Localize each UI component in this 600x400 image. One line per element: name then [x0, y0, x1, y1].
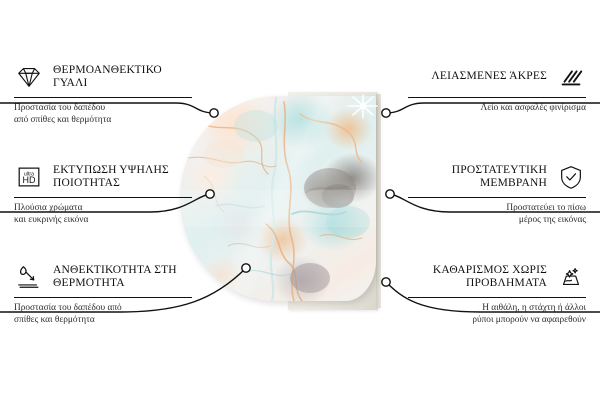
feature-title: ΛΕΙΑΣΜΕΝΕΣ ΆΚΡΕΣ: [431, 70, 547, 84]
feature-header: ultra HD ΕΚΤΥΠΩΣΗ ΥΨΗΛΗΣ ΠΟΙΟΤΗΤΑΣ: [14, 162, 192, 192]
feature-heat-resistant-glass: ΘΕΡΜΟΑΝΘΕΚΤΙΚΟ ΓΥΑΛΙ Προστασία του δαπέδ…: [14, 62, 192, 126]
feature-description-line2: από σπίθες και θερμότητα: [14, 115, 192, 127]
glass-glare: [180, 96, 376, 301]
feature-description: Προστασία του δαπέδου από σπίθες και θερ…: [14, 303, 192, 326]
feature-title: ΠΡΟΣΤΑΤΕΥΤΙΚΗ ΜΕΜΒΡΑΝΗ: [408, 164, 547, 191]
sparkle-clean-icon: [556, 262, 586, 292]
product-illustration: [180, 92, 420, 318]
feature-divider: [14, 197, 192, 198]
shield-check-icon: [556, 162, 586, 192]
feature-header: ΚΑΘΑΡΙΣΜΟΣ ΧΩΡΙΣ ΠΡΟΒΛΗΜΑΤΑ: [408, 262, 586, 292]
product-panel-edge: [376, 94, 381, 308]
diamond-icon: [14, 62, 44, 92]
feature-high-quality-print: ultra HD ΕΚΤΥΠΩΣΗ ΥΨΗΛΗΣ ΠΟΙΟΤΗΤΑΣ Πλούσ…: [14, 162, 192, 226]
feature-heat-durability: ΑΝΘΕΚΤΙΚΟΤΗΤΑ ΣΤΗ ΘΕΡΜΟΤΗΤΑ Προστασία το…: [14, 262, 192, 326]
feature-description: Λείο και ασφαλές φινίρισμα: [408, 103, 586, 115]
feature-title: ΘΕΡΜΟΑΝΘΕΚΤΙΚΟ ΓΥΑΛΙ: [53, 64, 192, 91]
feature-description-line2: και ευκρινής εικόνα: [14, 215, 192, 227]
feature-description-line2: ρύποι μπορούν να αφαιρεθούν: [408, 315, 586, 327]
feature-divider: [14, 297, 192, 298]
feature-header: ΑΝΘΕΚΤΙΚΟΤΗΤΑ ΣΤΗ ΘΕΡΜΟΤΗΤΑ: [14, 262, 192, 292]
feature-description-line2: μέρος της εικόνας: [408, 215, 586, 227]
ultra-hd-main-label: HD: [23, 175, 36, 185]
feature-description: Προστατεύει το πίσω μέρος της εικόνας: [408, 203, 586, 226]
feature-divider: [14, 97, 192, 98]
feature-description: Η αιθάλη, η στάχτη ή άλλοι ρύποι μπορούν…: [408, 303, 586, 326]
feature-header: ΘΕΡΜΟΑΝΘΕΚΤΙΚΟ ΓΥΑΛΙ: [14, 62, 192, 92]
feature-description-line1: Προστατεύει το πίσω: [408, 203, 586, 215]
feature-easy-cleaning: ΚΑΘΑΡΙΣΜΟΣ ΧΩΡΙΣ ΠΡΟΒΛΗΜΑΤΑ Η αιθάλη, η …: [408, 262, 586, 326]
feature-description-line1: Προστασία του δαπέδου από: [14, 303, 192, 315]
feature-polished-edges: ΛΕΙΑΣΜΕΝΕΣ ΆΚΡΕΣ Λείο και ασφαλές φινίρι…: [408, 62, 586, 115]
feature-divider: [408, 297, 586, 298]
feature-protective-membrane: ΠΡΟΣΤΑΤΕΥΤΙΚΗ ΜΕΜΒΡΑΝΗ Προστατεύει το πί…: [408, 162, 586, 226]
ultra-hd-icon: ultra HD: [14, 162, 44, 192]
printed-glass-panel: [180, 96, 376, 301]
feature-description-line1: Λείο και ασφαλές φινίρισμα: [408, 103, 586, 115]
feature-description: Προστασία του δαπέδου από σπίθες και θερ…: [14, 103, 192, 126]
feature-title: ΚΑΘΑΡΙΣΜΟΣ ΧΩΡΙΣ ΠΡΟΒΛΗΜΑΤΑ: [408, 264, 547, 291]
feature-title: ΕΚΤΥΠΩΣΗ ΥΨΗΛΗΣ ΠΟΙΟΤΗΤΑΣ: [53, 164, 192, 191]
feature-description-line1: Προστασία του δαπέδου: [14, 103, 192, 115]
feature-description-line1: Η αιθάλη, η στάχτη ή άλλοι: [408, 303, 586, 315]
feature-divider: [408, 97, 586, 98]
feature-title: ΑΝΘΕΚΤΙΚΟΤΗΤΑ ΣΤΗ ΘΕΡΜΟΤΗΤΑ: [53, 264, 192, 291]
feature-header: ΠΡΟΣΤΑΤΕΥΤΙΚΗ ΜΕΜΒΡΑΝΗ: [408, 162, 586, 192]
feature-description-line2: σπίθες και θερμότητα: [14, 315, 192, 327]
feature-header: ΛΕΙΑΣΜΕΝΕΣ ΆΚΡΕΣ: [408, 62, 586, 92]
flame-deflect-icon: [14, 262, 44, 292]
feature-divider: [408, 197, 586, 198]
feature-description: Πλούσια χρώματα και ευκρινής εικόνα: [14, 203, 192, 226]
feature-description-line1: Πλούσια χρώματα: [14, 203, 192, 215]
diagonal-lines-icon: [556, 62, 586, 92]
